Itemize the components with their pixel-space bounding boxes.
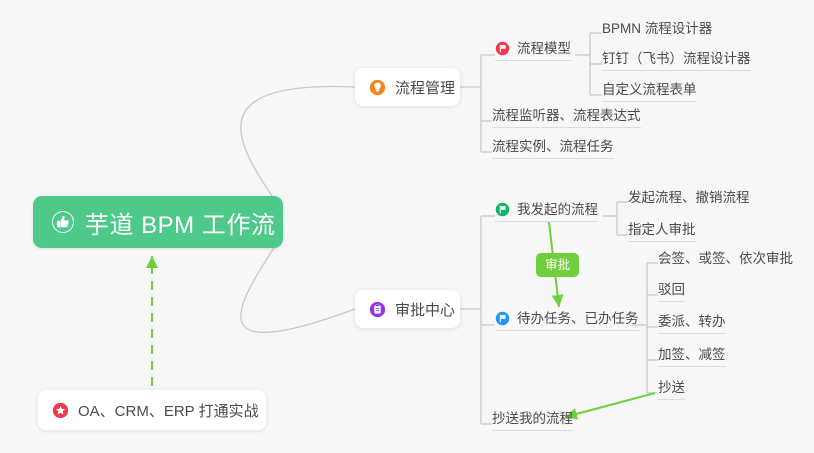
star-icon	[52, 402, 69, 419]
node-start-cancel-process[interactable]: 发起流程、撤销流程	[628, 185, 750, 209]
edge-root-to-approval-center	[241, 234, 355, 332]
node-cc-label: 抄送	[658, 376, 685, 396]
node-delegate-transfer-label: 委派、转办	[658, 310, 726, 330]
node-oa-crm-erp[interactable]: OA、CRM、ERP 打通实战	[38, 390, 266, 430]
node-cc-to-me-process[interactable]: 抄送我的流程	[492, 407, 573, 431]
approval-chip[interactable]: 审批	[536, 253, 579, 277]
arrow-cc-to-cc-my-process	[565, 393, 655, 417]
flag-icon	[495, 202, 510, 217]
node-cc-to-me-process-label: 抄送我的流程	[492, 407, 573, 427]
node-my-initiated-process-label: 我发起的流程	[517, 198, 598, 218]
root-label: 芋道 BPM 工作流	[85, 205, 275, 240]
flag-icon	[495, 311, 510, 326]
thumbs-up-icon	[51, 210, 75, 234]
node-countersign-or-sequential[interactable]: 会签、或签、依次审批	[658, 246, 793, 270]
node-my-initiated-process[interactable]: 我发起的流程	[495, 198, 598, 222]
lightbulb-icon	[369, 79, 386, 96]
node-cc[interactable]: 抄送	[658, 376, 685, 400]
node-add-remove-sign[interactable]: 加签、减签	[658, 343, 726, 367]
node-bpmn-designer-label: BPMN 流程设计器	[602, 17, 712, 37]
flag-icon	[495, 41, 510, 56]
node-todo-done-tasks[interactable]: 待办任务、已办任务	[495, 307, 639, 331]
node-approval-center-label: 审批中心	[395, 299, 455, 320]
node-assignee-approval-label: 指定人审批	[628, 218, 696, 238]
node-bpmn-designer[interactable]: BPMN 流程设计器	[602, 16, 712, 40]
node-process-management[interactable]: 流程管理	[355, 68, 460, 106]
edge-root-to-process-management	[241, 87, 355, 212]
node-process-management-label: 流程管理	[395, 77, 455, 98]
node-process-listener-expression-label: 流程监听器、流程表达式	[492, 104, 641, 124]
node-dingtalk-feishu-designer[interactable]: 钉钉（飞书）流程设计器	[602, 47, 751, 71]
node-delegate-transfer[interactable]: 委派、转办	[658, 310, 726, 334]
root-node[interactable]: 芋道 BPM 工作流	[33, 196, 283, 248]
node-reject[interactable]: 驳回	[658, 278, 685, 302]
node-reject-label: 驳回	[658, 278, 685, 298]
node-dingtalk-feishu-designer-label: 钉钉（飞书）流程设计器	[602, 47, 751, 67]
node-process-model-label: 流程模型	[517, 37, 571, 57]
node-custom-process-form-label: 自定义流程表单	[602, 78, 697, 98]
node-process-model[interactable]: 流程模型	[495, 37, 571, 61]
node-process-instance-task-label: 流程实例、流程任务	[492, 135, 614, 155]
node-add-remove-sign-label: 加签、减签	[658, 343, 726, 363]
node-approval-center[interactable]: 审批中心	[355, 290, 460, 328]
node-assignee-approval[interactable]: 指定人审批	[628, 218, 696, 242]
clipboard-icon	[369, 301, 386, 318]
node-custom-process-form[interactable]: 自定义流程表单	[602, 78, 697, 102]
node-process-listener-expression[interactable]: 流程监听器、流程表达式	[492, 104, 641, 128]
node-countersign-or-sequential-label: 会签、或签、依次审批	[658, 247, 793, 267]
node-process-instance-task[interactable]: 流程实例、流程任务	[492, 135, 614, 159]
node-start-cancel-process-label: 发起流程、撤销流程	[628, 186, 750, 206]
node-oa-crm-erp-label: OA、CRM、ERP 打通实战	[78, 400, 259, 421]
mindmap-canvas: 芋道 BPM 工作流 流程管理 审批中心	[0, 0, 814, 453]
node-todo-done-tasks-label: 待办任务、已办任务	[517, 307, 639, 327]
